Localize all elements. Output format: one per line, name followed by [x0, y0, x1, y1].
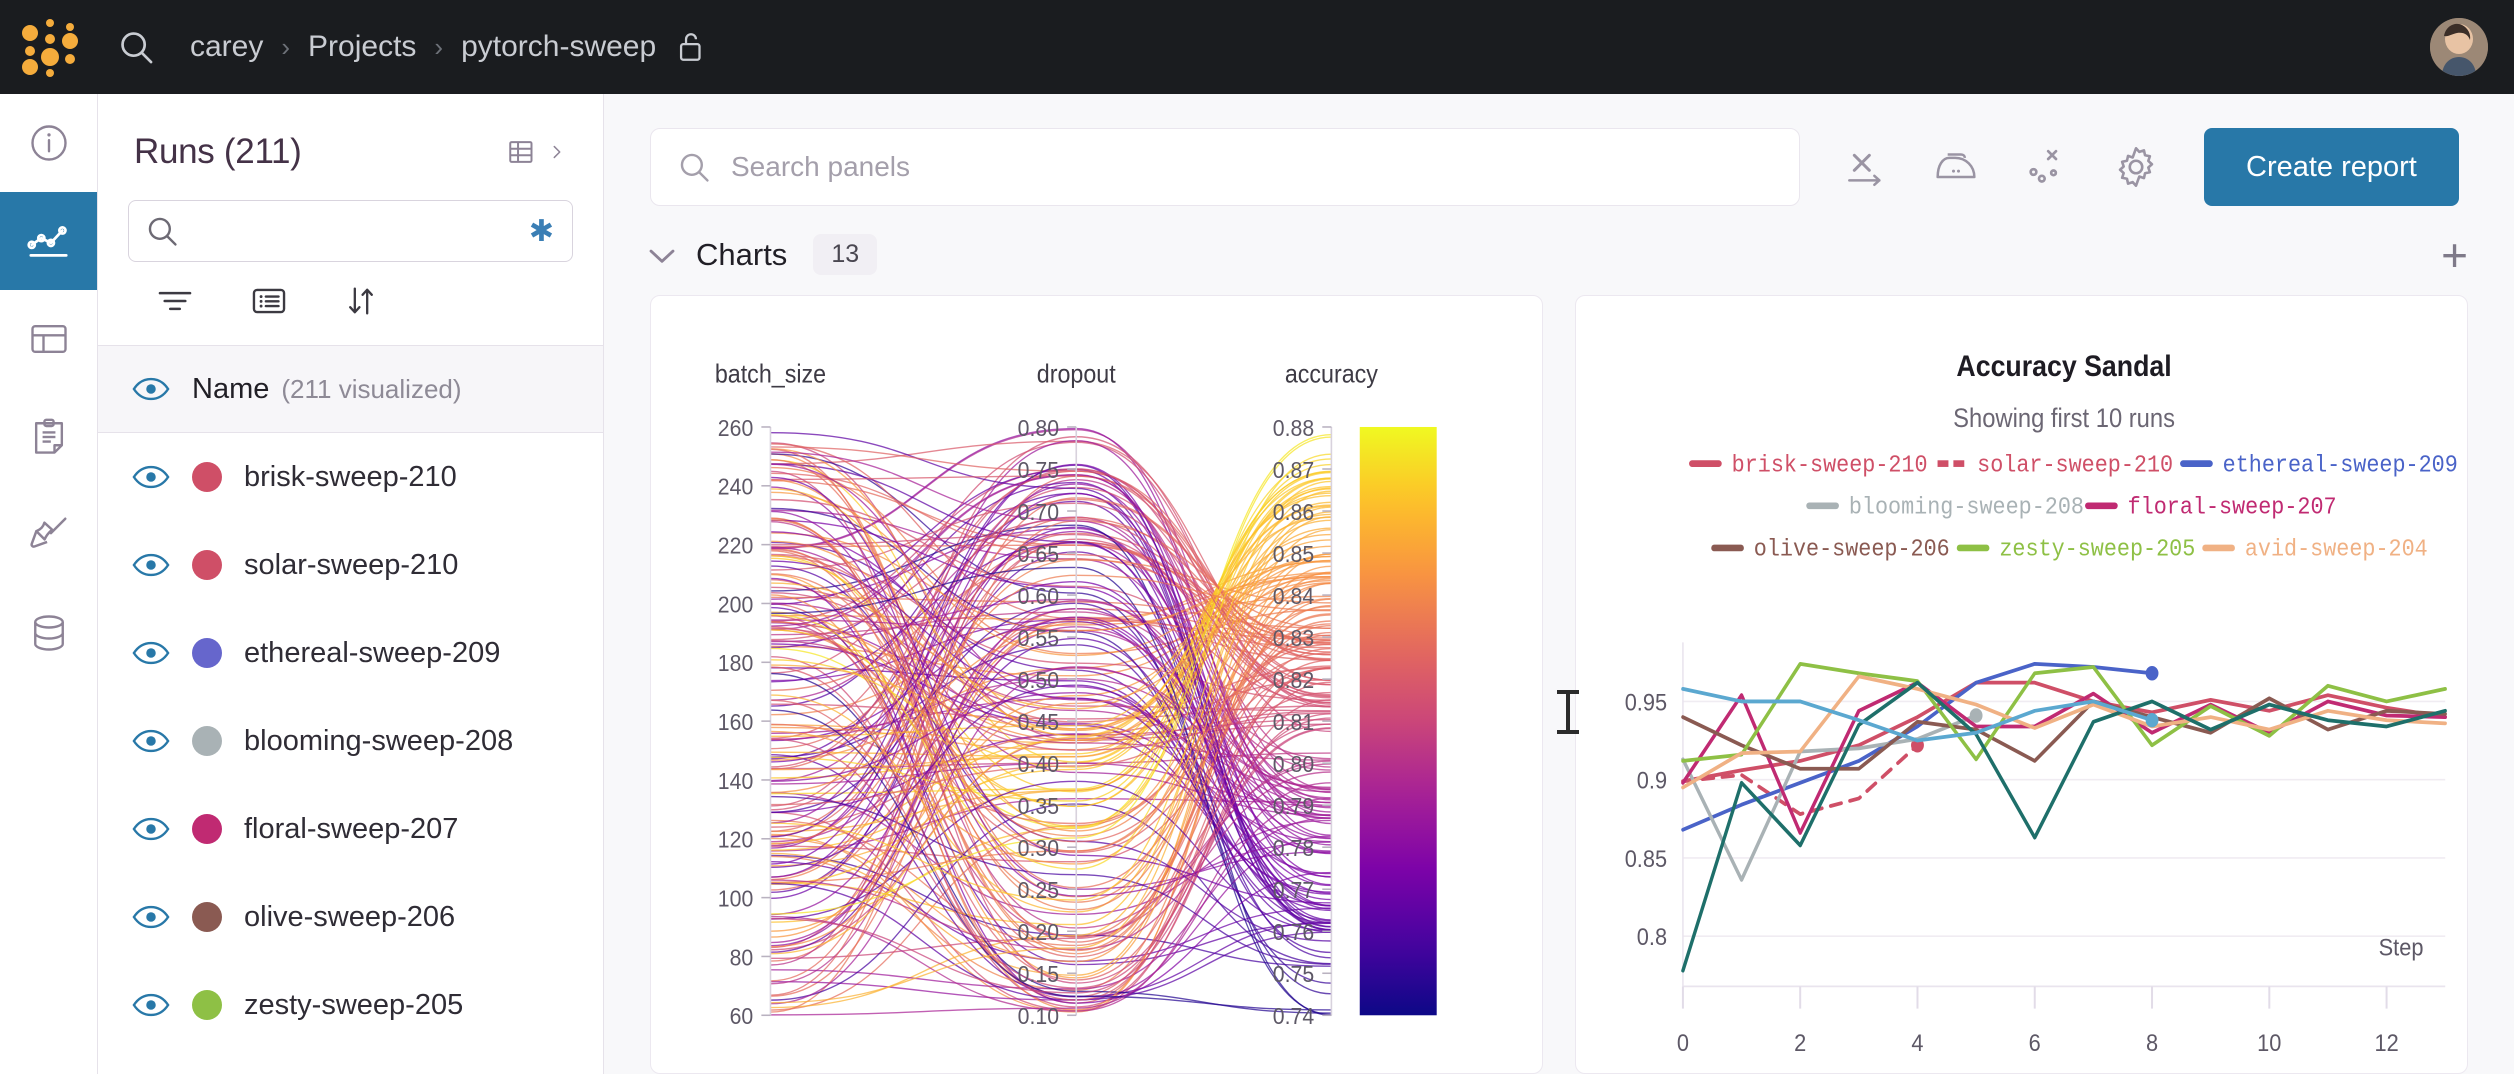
run-list-item[interactable]: olive-sweep-206	[98, 873, 603, 961]
svg-text:0: 0	[1677, 1029, 1689, 1056]
parallel-coordinates-panel[interactable]: batch_size608010012014016018020022024026…	[650, 295, 1543, 1074]
create-report-button[interactable]: Create report	[2204, 128, 2459, 206]
svg-text:0.84: 0.84	[1273, 583, 1314, 609]
charts-section-header: Charts 13 +	[604, 206, 2514, 289]
svg-text:0.82: 0.82	[1273, 667, 1314, 693]
panel-grid: batch_size608010012014016018020022024026…	[604, 289, 2514, 1074]
svg-text:0.87: 0.87	[1273, 457, 1314, 483]
sidebar-item-overview[interactable]	[0, 94, 97, 192]
expand-table-icon[interactable]	[505, 135, 567, 169]
wandb-logo-icon[interactable]	[26, 19, 88, 75]
breadcrumb-entity[interactable]: carey	[186, 30, 267, 64]
search-panels-input[interactable]: Search panels	[650, 128, 1800, 206]
run-color-swatch	[192, 638, 222, 668]
svg-text:0.60: 0.60	[1018, 583, 1059, 609]
eye-icon[interactable]	[128, 905, 174, 929]
svg-text:0.95: 0.95	[1625, 688, 1667, 715]
parallel-coordinates-chart: batch_size608010012014016018020022024026…	[651, 296, 1542, 1073]
left-icon-rail	[0, 94, 98, 1074]
sidebar-item-sweeps[interactable]	[0, 486, 97, 584]
run-list-item[interactable]: floral-sweep-207	[98, 785, 603, 873]
svg-text:140: 140	[718, 768, 753, 794]
svg-text:solar-sweep-210: solar-sweep-210	[1977, 451, 2173, 478]
svg-text:0.74: 0.74	[1273, 1003, 1314, 1029]
regex-asterisk-icon[interactable]: ✱	[529, 214, 554, 249]
eye-icon[interactable]	[128, 729, 174, 753]
sidebar-item-workspace[interactable]	[0, 192, 97, 290]
add-panel-icon[interactable]: +	[2441, 232, 2468, 278]
global-search-icon[interactable]	[108, 19, 164, 75]
svg-text:80: 80	[730, 944, 754, 970]
run-color-swatch	[192, 726, 222, 756]
svg-text:accuracy: accuracy	[1285, 361, 1379, 389]
svg-text:6: 6	[2029, 1029, 2041, 1056]
svg-text:floral-sweep-207: floral-sweep-207	[2128, 494, 2337, 521]
svg-text:8: 8	[2146, 1029, 2158, 1056]
svg-text:0.9: 0.9	[1637, 766, 1667, 793]
svg-text:0.75: 0.75	[1018, 457, 1059, 483]
svg-text:0.30: 0.30	[1018, 835, 1059, 861]
user-avatar[interactable]	[2430, 18, 2488, 76]
panels-toolbar: Search panels	[604, 94, 2514, 206]
run-name-label: ethereal-sweep-209	[244, 637, 500, 670]
svg-text:0.85: 0.85	[1273, 541, 1314, 567]
svg-text:0.65: 0.65	[1018, 541, 1059, 567]
svg-text:220: 220	[718, 533, 753, 559]
text-cursor	[1566, 690, 1570, 734]
svg-text:blooming-sweep-208: blooming-sweep-208	[1849, 494, 2084, 521]
svg-text:0.80: 0.80	[1273, 751, 1314, 777]
svg-text:avid-sweep-204: avid-sweep-204	[2245, 536, 2428, 563]
run-list-item[interactable]: solar-sweep-210	[98, 521, 603, 609]
breadcrumb-projects[interactable]: Projects	[304, 30, 420, 64]
eye-icon[interactable]	[128, 817, 174, 841]
svg-text:160: 160	[718, 709, 753, 735]
svg-text:100: 100	[718, 886, 753, 912]
svg-text:0.25: 0.25	[1018, 877, 1059, 903]
svg-text:brisk-sweep-210: brisk-sweep-210	[1732, 451, 1928, 478]
eye-icon[interactable]	[128, 553, 174, 577]
runs-sidebar: Runs (211) ✱	[98, 94, 604, 1074]
svg-text:120: 120	[718, 827, 753, 853]
runs-toolbar	[98, 262, 603, 345]
sidebar-item-reports[interactable]	[0, 388, 97, 486]
svg-text:Showing first 10 runs: Showing first 10 runs	[1953, 404, 2175, 434]
eye-icon[interactable]	[128, 465, 174, 489]
svg-text:10: 10	[2257, 1029, 2281, 1056]
breadcrumb-separator-2: ›	[420, 32, 457, 63]
filter-icon[interactable]	[156, 286, 194, 321]
run-name-label: brisk-sweep-210	[244, 461, 457, 494]
eye-icon[interactable]	[128, 641, 174, 665]
svg-text:0.88: 0.88	[1273, 415, 1314, 441]
smoothing-iron-icon[interactable]	[1924, 135, 1988, 199]
runs-panel-header: Runs (211)	[98, 94, 603, 186]
svg-text:dropout: dropout	[1037, 361, 1116, 389]
svg-text:0.20: 0.20	[1018, 919, 1059, 945]
run-color-swatch	[192, 814, 222, 844]
search-panels-placeholder: Search panels	[731, 151, 910, 183]
breadcrumb-project[interactable]: pytorch-sweep	[457, 30, 660, 64]
svg-text:2: 2	[1794, 1029, 1806, 1056]
charts-section-title: Charts	[696, 237, 787, 273]
svg-text:0.77: 0.77	[1273, 877, 1314, 903]
run-list-item[interactable]: brisk-sweep-210	[98, 433, 603, 521]
run-list-item[interactable]: blooming-sweep-208	[98, 697, 603, 785]
gear-icon[interactable]	[2104, 135, 2168, 199]
run-color-swatch	[192, 990, 222, 1020]
svg-text:0.85: 0.85	[1625, 845, 1667, 872]
app-body: Runs (211) ✱	[0, 94, 2514, 1074]
run-color-swatch	[192, 550, 222, 580]
svg-text:240: 240	[718, 474, 753, 500]
run-name-label: blooming-sweep-208	[244, 725, 513, 758]
run-name-label: olive-sweep-206	[244, 901, 455, 934]
svg-text:0.81: 0.81	[1273, 709, 1314, 735]
run-list-item[interactable]: zesty-sweep-205	[98, 961, 603, 1049]
svg-text:0.8: 0.8	[1637, 923, 1667, 950]
svg-text:0.10: 0.10	[1018, 1003, 1059, 1029]
svg-text:0.55: 0.55	[1018, 625, 1059, 651]
run-color-swatch	[192, 462, 222, 492]
run-name-label: zesty-sweep-205	[244, 989, 463, 1022]
panel-actions	[1834, 135, 2168, 199]
runs-title: Runs (211)	[134, 132, 302, 172]
wandb-workspace: carey › Projects › pytorch-sweep	[0, 0, 2514, 1074]
svg-text:60: 60	[730, 1003, 754, 1029]
svg-text:180: 180	[718, 650, 753, 676]
outlier-scatter-icon[interactable]	[2014, 135, 2078, 199]
accuracy-line-panel[interactable]: Accuracy SandalShowing first 10 runsbris…	[1575, 295, 2468, 1074]
runs-header-label: Name	[192, 373, 269, 406]
svg-text:260: 260	[718, 415, 753, 441]
svg-text:zesty-sweep-205: zesty-sweep-205	[1999, 536, 2195, 563]
runs-visualized-count: (211 visualized)	[281, 374, 461, 405]
svg-text:0.40: 0.40	[1018, 751, 1059, 777]
charts-count-badge: 13	[813, 234, 877, 275]
breadcrumb-separator: ›	[267, 32, 304, 63]
x-axis-icon[interactable]	[1834, 135, 1898, 199]
svg-text:0.83: 0.83	[1273, 625, 1314, 651]
run-name-label: solar-sweep-210	[244, 549, 458, 582]
workspace-main: Search panels	[604, 94, 2514, 1074]
svg-text:batch_size: batch_size	[715, 361, 826, 389]
svg-text:0.78: 0.78	[1273, 835, 1314, 861]
eye-icon[interactable]	[128, 377, 174, 401]
svg-text:0.86: 0.86	[1273, 499, 1314, 525]
breadcrumb: carey › Projects › pytorch-sweep	[186, 30, 706, 64]
svg-text:0.80: 0.80	[1018, 415, 1059, 441]
run-color-swatch	[192, 902, 222, 932]
runs-header-row[interactable]: Name (211 visualized)	[98, 345, 603, 433]
svg-text:0.35: 0.35	[1018, 793, 1059, 819]
runs-search-input[interactable]: ✱	[128, 200, 573, 262]
svg-text:0.76: 0.76	[1273, 919, 1314, 945]
chevron-down-icon[interactable]	[646, 244, 678, 266]
svg-text:olive-sweep-206: olive-sweep-206	[1754, 536, 1950, 563]
svg-text:0.50: 0.50	[1018, 667, 1059, 693]
svg-text:0.79: 0.79	[1273, 793, 1314, 819]
svg-text:Step: Step	[2379, 933, 2424, 960]
sort-icon[interactable]	[344, 284, 378, 323]
top-navigation-bar: carey › Projects › pytorch-sweep	[0, 0, 2514, 94]
svg-text:0.75: 0.75	[1273, 961, 1314, 987]
svg-text:200: 200	[718, 591, 753, 617]
unlock-icon[interactable]	[676, 30, 706, 64]
svg-text:0.15: 0.15	[1018, 961, 1059, 987]
svg-text:4: 4	[1911, 1029, 1923, 1056]
run-name-label: floral-sweep-207	[244, 813, 458, 846]
svg-text:12: 12	[2374, 1029, 2398, 1056]
sidebar-item-runs-table[interactable]	[0, 290, 97, 388]
accuracy-line-chart: Accuracy SandalShowing first 10 runsbris…	[1576, 296, 2467, 1073]
svg-text:Accuracy Sandal: Accuracy Sandal	[1956, 350, 2171, 384]
columns-list-icon[interactable]	[250, 285, 288, 322]
svg-text:0.70: 0.70	[1018, 499, 1059, 525]
sidebar-item-artifacts[interactable]	[0, 584, 97, 682]
svg-text:0.45: 0.45	[1018, 709, 1059, 735]
eye-icon[interactable]	[128, 993, 174, 1017]
svg-text:ethereal-sweep-209: ethereal-sweep-209	[2223, 451, 2458, 478]
runs-list: brisk-sweep-210solar-sweep-210ethereal-s…	[98, 433, 603, 1074]
run-list-item[interactable]: ethereal-sweep-209	[98, 609, 603, 697]
